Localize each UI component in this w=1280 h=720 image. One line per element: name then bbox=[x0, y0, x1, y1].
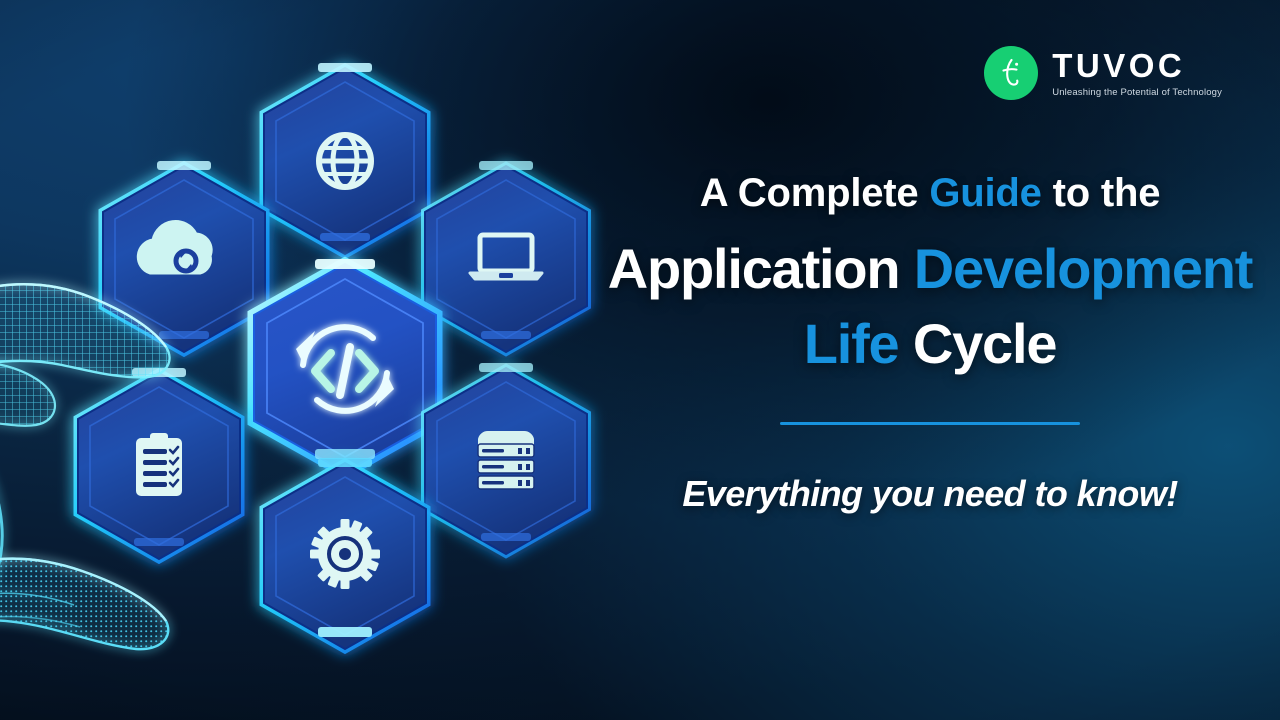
headline-line1-accent: Guide bbox=[929, 171, 1041, 215]
headline-line-3: Life Cycle bbox=[600, 310, 1260, 377]
headline-line-1: A Complete Guide to the bbox=[600, 170, 1260, 217]
headline-line2-text-a: Application bbox=[608, 237, 914, 300]
headline-line2-accent: Development bbox=[914, 237, 1252, 300]
headline-line3-accent: Life bbox=[804, 312, 899, 375]
brand-tagline: Unleashing the Potential of Technology bbox=[1052, 87, 1222, 98]
tuvoc-mark-icon bbox=[984, 46, 1038, 100]
subtitle: Everything you need to know! bbox=[600, 473, 1260, 515]
brand-name: TUVOC bbox=[1052, 49, 1185, 82]
headline-block: A Complete Guide to the Application Deve… bbox=[600, 170, 1260, 515]
headline-line3-text-b: Cycle bbox=[898, 312, 1056, 375]
headline-divider bbox=[780, 422, 1080, 425]
headline-line1-text-a: A Complete bbox=[700, 171, 930, 215]
headline-line1-text-b: to the bbox=[1042, 171, 1161, 215]
headline-line-2: Application Development bbox=[600, 235, 1260, 302]
banner-canvas: A Complete Guide to the Application Deve… bbox=[0, 0, 1280, 720]
brand-logo[interactable]: TUVOC Unleashing the Potential of Techno… bbox=[984, 46, 1222, 100]
brand-logo-text: TUVOC Unleashing the Potential of Techno… bbox=[1052, 49, 1222, 98]
